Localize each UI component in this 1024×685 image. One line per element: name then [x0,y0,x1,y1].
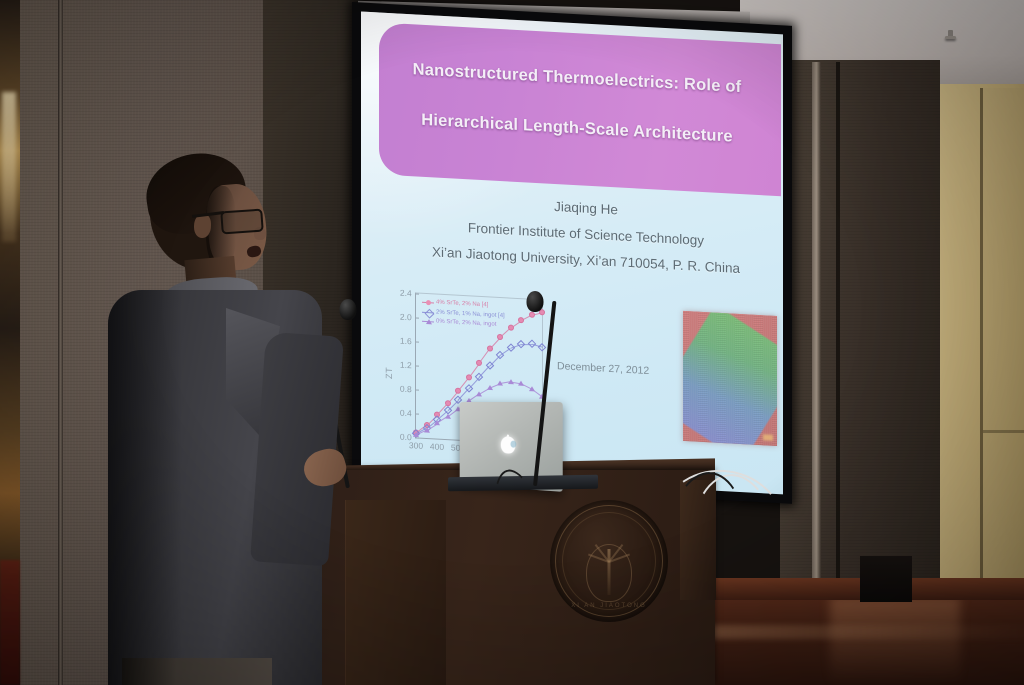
podium-front-panel [345,500,446,685]
emblem-torch-icon [608,549,611,595]
chart-data-point [476,360,482,366]
chart-x-tick: 400 [430,440,444,453]
tan-panel-seam-horizontal [983,430,1024,433]
chart-y-tick: 0.8 [400,384,415,395]
floor-reflection-strip [700,625,1024,639]
mirror-strip-red-reflection [0,560,20,685]
left-wall-edge-trim [58,0,63,685]
chart-data-point [518,317,524,323]
chart-data-point [445,414,451,419]
chart-x-tick: 300 [409,439,423,452]
chart-legend: 4% SrTe, 2% Na [4]2% SrTe, 1% Na, ingot … [422,298,505,331]
apple-logo-icon [501,436,516,454]
right-wall-seam-secondary [836,62,840,622]
chart-data-point [466,374,472,380]
mirror-strip-highlight [2,92,16,242]
slide-title-line-2: Hierarchical Length-Scale Architecture [379,108,775,148]
presenter-ear [194,214,211,238]
doorway-shadow [860,556,912,602]
chart-data-point [508,324,514,330]
slide-title-banner: Nanostructured Thermoelectrics: Role of … [379,22,781,196]
chart-data-point [434,420,440,425]
chart-data-point [455,387,461,393]
inset-bright-spot [763,434,773,441]
projection-screen: Nanostructured Thermoelectrics: Role of … [352,2,792,504]
false-color-micrograph-inset [683,311,777,446]
chart-y-tick: 0.4 [400,408,415,419]
sprinkler-head-icon [945,30,956,42]
chart-data-point [497,381,503,386]
chart-data-point [518,380,524,385]
right-tan-wall-panel-far [983,88,1024,633]
chart-data-point [497,334,503,340]
chart-data-point [487,385,493,390]
emblem-ring-text: XI AN JIAOTONG [550,603,668,609]
presenter-jacket-shadow [108,290,182,685]
chart-y-axis-label: ZT [384,367,394,380]
chart-data-point [413,432,419,437]
chart-data-point [476,391,482,396]
slide-title-line-1: Nanostructured Thermoelectrics: Role of [379,58,775,98]
chart-data-point [508,379,514,384]
presenter [108,158,343,685]
microphone-head-icon [527,291,544,312]
projected-slide: Nanostructured Thermoelectrics: Role of … [361,11,783,494]
chart-y-tick: 2.4 [400,288,415,299]
gooseneck-microphone-right[interactable] [525,300,545,486]
presentation-photo-scene: Nanostructured Thermoelectrics: Role of … [0,0,1024,685]
tan-panel-seam [980,88,983,633]
chart-y-tick: 1.6 [400,336,415,347]
slide-author-block: Jiaqing He Frontier Institute of Science… [391,185,781,284]
inset-noise-texture [683,311,777,446]
glasses-icon [220,209,264,235]
podium-crest-emblem: XI AN JIAOTONG [550,500,668,622]
presenter-trousers-shadow [122,658,176,685]
chart-y-tick: 2.0 [400,312,415,323]
chart-data-point [424,427,430,432]
slide-date: December 27, 2012 [557,360,649,377]
right-wall-seam [812,62,821,622]
chart-data-point [487,345,493,351]
chart-data-point [517,340,525,348]
floor-reflection [830,596,960,685]
chart-y-tick: 1.2 [400,360,415,371]
